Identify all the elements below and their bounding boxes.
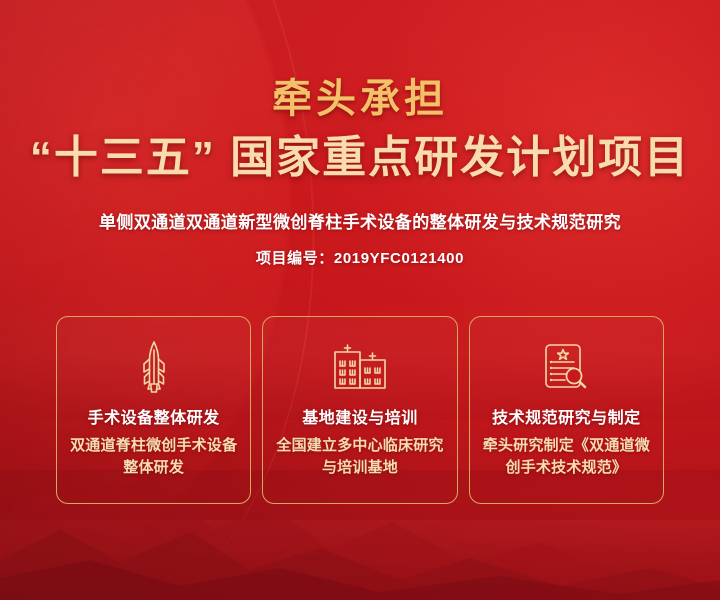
feature-card-body: 全国建立多中心临床研究与培训基地 [263,435,456,479]
headline-line-2: “十三五” 国家重点研发计划项目 [0,134,720,182]
promo-banner: 牵头承担 “十三五” 国家重点研发计划项目 单侧双通道双通道新型微创脊柱手术设备… [0,0,720,600]
rocket-icon [132,339,176,395]
headline-block: 牵头承担 “十三五” 国家重点研发计划项目 [0,78,720,182]
feature-card-title: 基地建设与培训 [302,404,418,428]
feature-card-list: 手术设备整体研发 双通道脊柱微创手术设备整体研发 [56,316,664,504]
hospital-building-icon [331,339,389,395]
project-subtitle: 单侧双通道双通道新型微创脊柱手术设备的整体研发与技术规范研究 [0,208,720,233]
document-search-icon [539,339,593,395]
feature-card-base-training[interactable]: 基地建设与培训 全国建立多中心临床研究与培训基地 [262,316,457,504]
feature-card-title: 技术规范研究与制定 [492,404,641,428]
feature-card-body: 双通道脊柱微创手术设备整体研发 [57,435,250,479]
feature-card-body: 牵头研究制定《双通道微创手术技术规范》 [470,435,663,479]
feature-card-title: 手术设备整体研发 [88,404,220,428]
project-number: 项目编号：2019YFC0121400 [0,247,720,268]
headline-line-1: 牵头承担 [0,78,720,120]
feature-card-equipment-rd[interactable]: 手术设备整体研发 双通道脊柱微创手术设备整体研发 [56,316,251,504]
feature-card-tech-standard[interactable]: 技术规范研究与制定 牵头研究制定《双通道微创手术技术规范》 [469,316,664,504]
